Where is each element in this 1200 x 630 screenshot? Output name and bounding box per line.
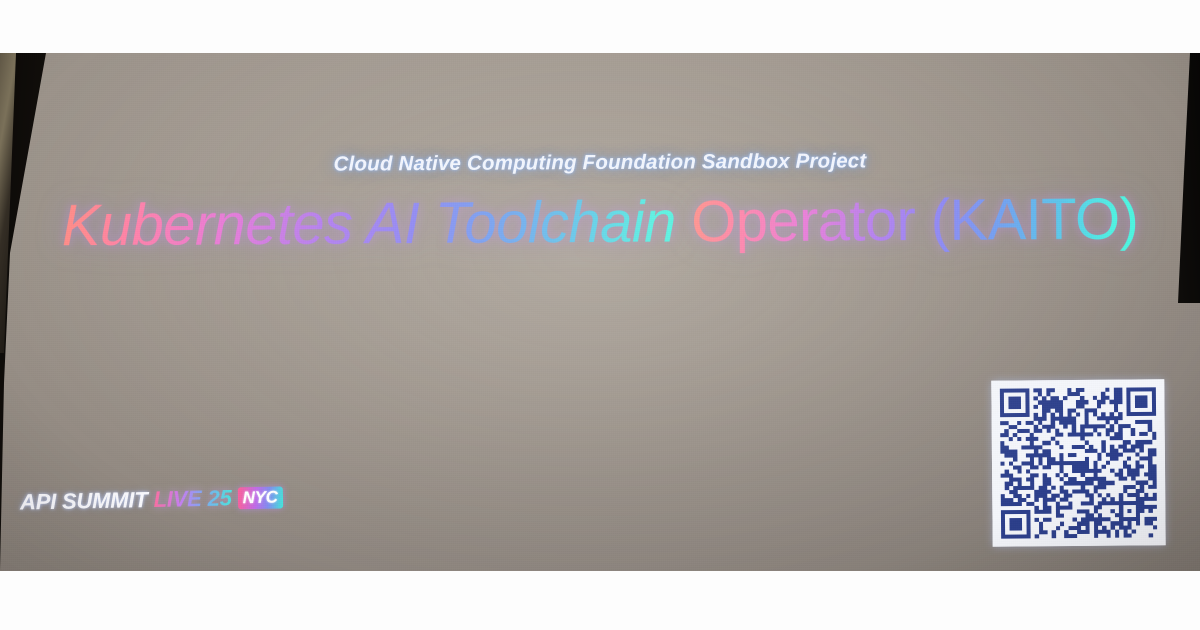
qr-code-image bbox=[991, 379, 1165, 547]
event-logo-brand: API SUMMIT bbox=[20, 487, 148, 515]
slide-eyebrow-text: Cloud Native Computing Foundation Sandbo… bbox=[0, 147, 1200, 178]
event-logo-city-badge: NYC bbox=[237, 486, 282, 509]
slide-content: Cloud Native Computing Foundation Sandbo… bbox=[0, 53, 1200, 571]
slide-title-italic-part: Kubernetes AI Toolchain bbox=[62, 189, 692, 258]
slide-title-roman-part: Operator (KAITO) bbox=[691, 187, 1138, 255]
qr-code[interactable] bbox=[991, 379, 1165, 547]
event-logo-edition: LIVE 25 bbox=[153, 485, 232, 512]
slide-title: Kubernetes AI Toolchain Operator (KAITO) bbox=[0, 185, 1200, 260]
photo-frame: Cloud Native Computing Foundation Sandbo… bbox=[0, 0, 1200, 630]
projected-slide: Cloud Native Computing Foundation Sandbo… bbox=[0, 53, 1200, 571]
event-logo: API SUMMIT LIVE 25 NYC bbox=[20, 484, 283, 515]
